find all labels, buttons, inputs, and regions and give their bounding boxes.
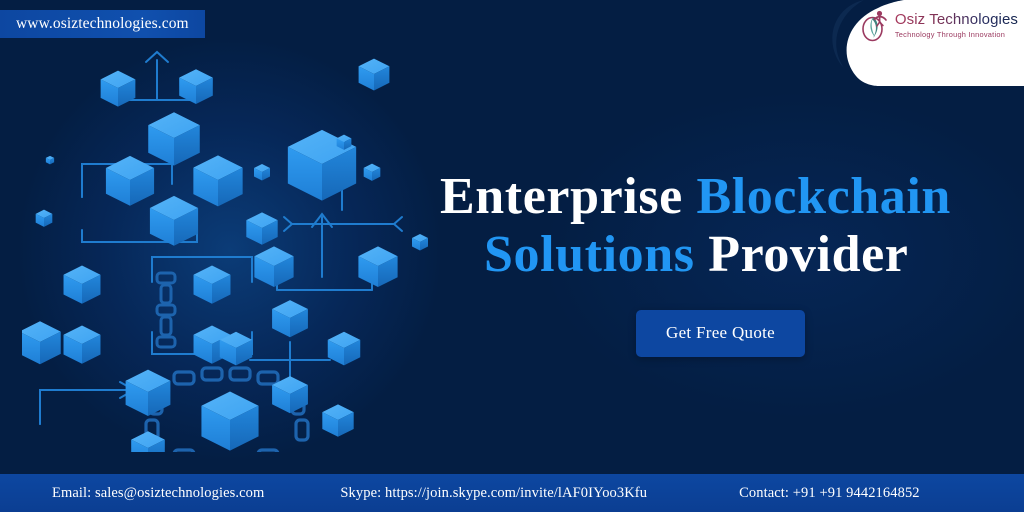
- footer-email[interactable]: Email: sales@osiztechnologies.com: [52, 485, 264, 502]
- footer-skype[interactable]: Skype: https://join.skype.com/invite/lAF…: [340, 485, 647, 502]
- logo-tagline: Technology Through Innovation: [895, 31, 1018, 38]
- brand-logo[interactable]: Osiz Technologies Technology Through Inn…: [860, 7, 1018, 43]
- logo-company-name: Osiz Technologies: [895, 12, 1018, 27]
- osiz-figure-icon: [860, 7, 890, 43]
- contact-footer-bar: Email: sales@osiztechnologies.com Skype:…: [0, 474, 1024, 512]
- headline-line-2: Solutions Provider: [440, 226, 1010, 284]
- page-title: Enterprise Blockchain Solutions Provider: [440, 168, 1010, 284]
- headline-line-1: Enterprise Blockchain: [440, 168, 1010, 226]
- headline-word-provider: Provider: [708, 226, 908, 283]
- website-url-badge[interactable]: www.osiztechnologies.com: [0, 10, 205, 38]
- footer-contact[interactable]: Contact: +91 +91 9442164852: [739, 485, 920, 502]
- blockchain-cubes-illustration: [22, 42, 452, 452]
- headline-word-blockchain: Blockchain: [696, 168, 951, 225]
- headline-word-solutions: Solutions: [484, 226, 708, 283]
- get-free-quote-button[interactable]: Get Free Quote: [636, 310, 805, 357]
- headline-word-enterprise: Enterprise: [440, 168, 696, 225]
- logo-wordmark-group: Osiz Technologies Technology Through Inn…: [895, 12, 1018, 38]
- hero-content: Enterprise Blockchain Solutions Provider…: [440, 168, 1010, 357]
- promotional-banner: www.osiztechnologies.com Osiz Technologi…: [0, 0, 1024, 512]
